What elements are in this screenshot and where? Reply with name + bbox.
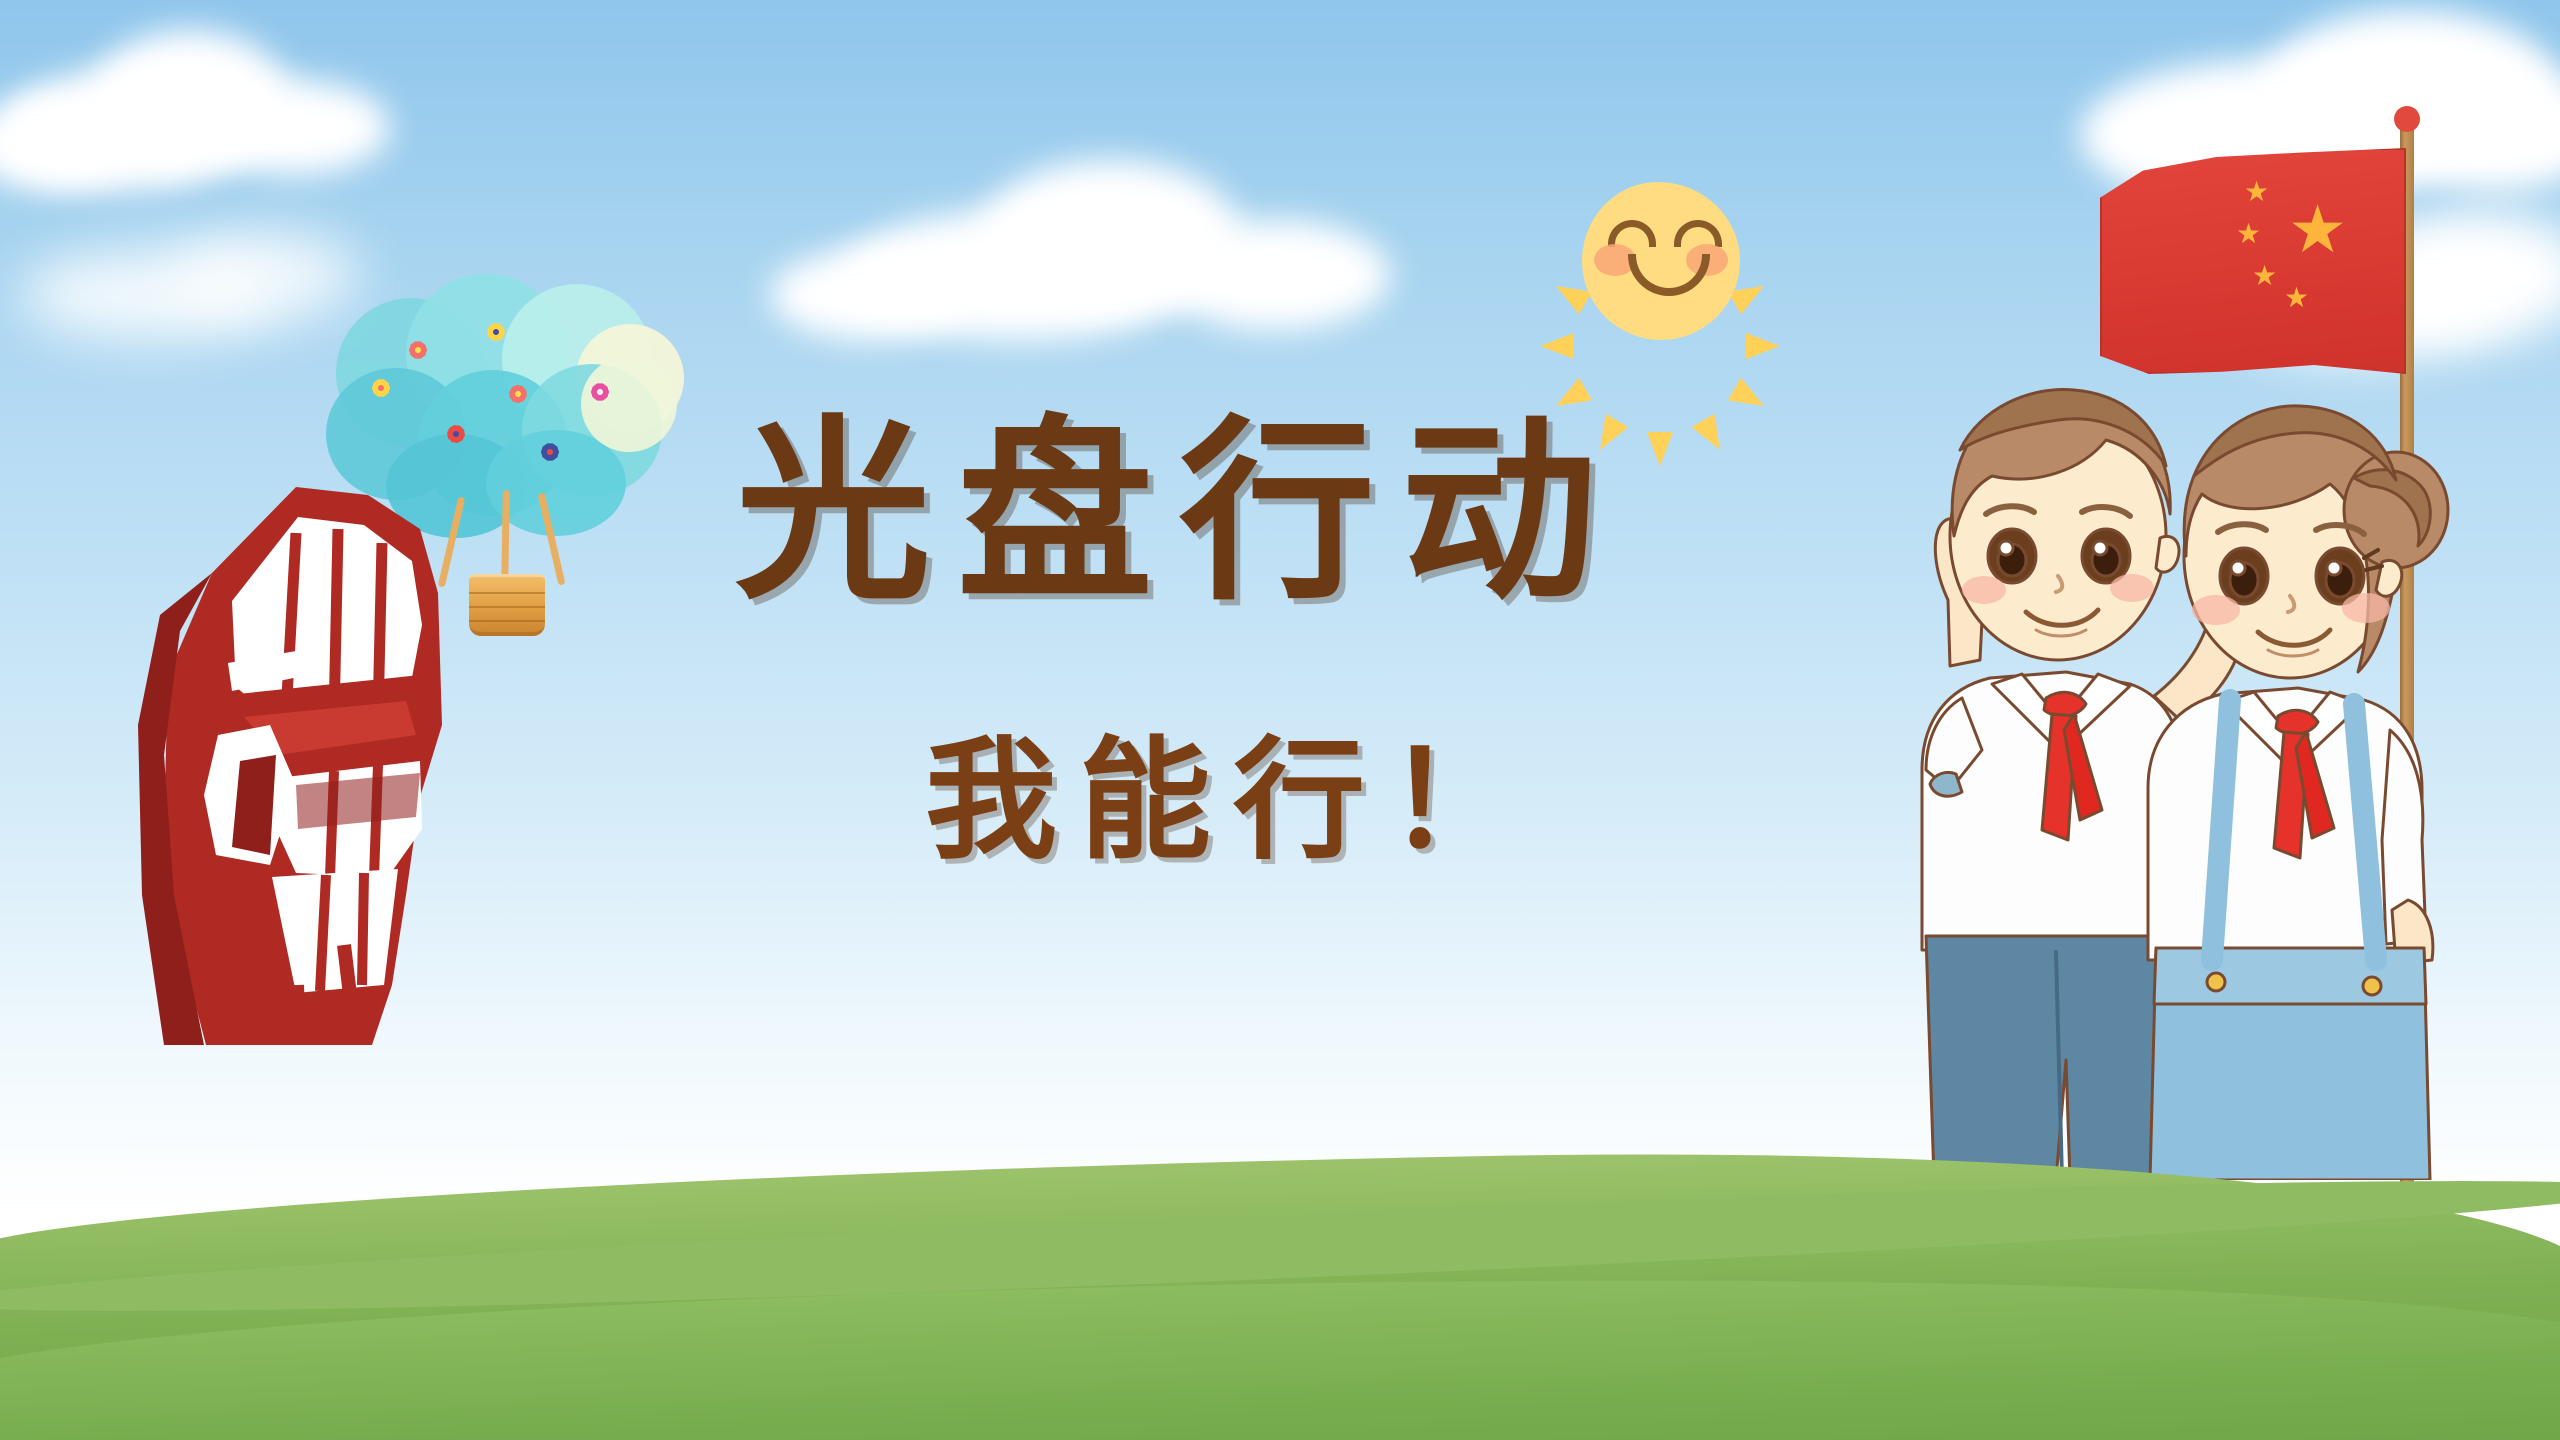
- balloon-basket: [469, 574, 545, 636]
- cloud-group-top-center: [760, 140, 1400, 360]
- sun-ray: [1728, 378, 1770, 418]
- sun-ray: [1647, 432, 1673, 466]
- sun-eye-right: [1674, 220, 1722, 247]
- sun-eye-left: [1608, 220, 1656, 247]
- star-icon: ★: [2288, 196, 2347, 262]
- students-illustration: [1830, 300, 2450, 1180]
- sun-ray: [1540, 333, 1574, 359]
- poster-canvas: ★ ★ ★ ★ ★: [0, 0, 2560, 1440]
- page-subtitle: 我能行！: [925, 735, 1541, 867]
- balloon-rope: [501, 490, 510, 586]
- star-icon: ★: [2244, 178, 2269, 206]
- sun-icon: [1540, 140, 1780, 380]
- cloud-group-top-left: [0, 20, 450, 220]
- page-title: 光盘行动: [735, 415, 1623, 611]
- sun-face: [1582, 182, 1740, 340]
- flagpole-knob: [2394, 106, 2420, 132]
- star-icon: ★: [2252, 262, 2277, 290]
- sun-ray: [1746, 333, 1780, 359]
- balloon-puff: [581, 356, 677, 452]
- sun-mouth: [1628, 254, 1710, 296]
- sun-ray: [1692, 414, 1732, 456]
- star-icon: ★: [2236, 220, 2261, 248]
- fist-icon: [120, 425, 460, 1045]
